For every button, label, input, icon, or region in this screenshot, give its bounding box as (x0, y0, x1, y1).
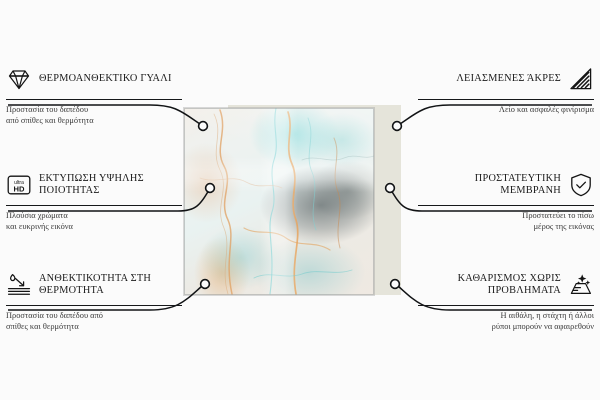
feature-protective-membrane: ΠΡΟΣΤΑΤΕΥΤΙΚΗ ΜΕΜΒΡΑΝΗ Προστατεύει το πί… (418, 168, 594, 232)
infographic-stage: ΘΕΡΜΟΑΝΘΕΚΤΙΚΟ ΓΥΑΛΙ Προστασία του δαπέδ… (0, 0, 600, 400)
feature-title: ΕΚΤΥΠΩΣΗ ΥΨΗΛΗΣ ΠΟΙΟΤΗΤΑΣ (39, 173, 182, 198)
divider (6, 99, 182, 100)
diamond-icon (6, 66, 32, 92)
feature-subtitle: Η αιθάλη, η στάχτη ή άλλοιρύποι μπορούν … (418, 311, 594, 332)
shield-check-icon (568, 172, 594, 198)
feature-subtitle: Προστασία του δαπέδου απόσπίθες και θερμ… (6, 311, 182, 332)
divider (6, 305, 182, 306)
feature-subtitle: Προστασία του δαπέδουαπό σπίθες και θερμ… (6, 105, 182, 126)
feature-subtitle: Λείο και ασφαλές φινίρισμα (418, 105, 594, 116)
feature-heat-resistant-glass: ΘΕΡΜΟΑΝΘΕΚΤΙΚΟ ΓΥΑΛΙ Προστασία του δαπέδ… (6, 62, 182, 126)
product-image (184, 108, 401, 295)
hatched-edge-icon (568, 66, 594, 92)
glass-edge (184, 108, 374, 295)
feature-subtitle: Πλούσια χρώματακαι ευκρινής εικόνα (6, 211, 182, 232)
divider (418, 305, 594, 306)
feature-polished-edges: ΛΕΙΑΣΜΕΝΕΣ ΆΚΡΕΣ Λείο και ασφαλές φινίρι… (418, 62, 594, 116)
feature-title: ΠΡΟΣΤΑΤΕΥΤΙΚΗ ΜΕΜΒΡΑΝΗ (418, 173, 561, 198)
feature-heat-durability: ΑΝΘΕΚΤΙΚΟΤΗΤΑ ΣΤΗ ΘΕΡΜΟΤΗΤΑ Προστασία το… (6, 268, 182, 332)
sparkle-clean-icon (568, 272, 594, 298)
svg-text:HD: HD (14, 184, 25, 193)
divider (6, 205, 182, 206)
flame-deflect-icon (6, 272, 32, 298)
ultra-hd-icon: ultra HD (6, 172, 32, 198)
feature-title: ΛΕΙΑΣΜΕΝΕΣ ΆΚΡΕΣ (456, 73, 561, 85)
divider (418, 205, 594, 206)
feature-title: ΘΕΡΜΟΑΝΘΕΚΤΙΚΟ ΓΥΑΛΙ (39, 73, 172, 85)
feature-high-quality-print: ultra HD ΕΚΤΥΠΩΣΗ ΥΨΗΛΗΣ ΠΟΙΟΤΗΤΑΣ Πλούσ… (6, 168, 182, 232)
glass-panel (184, 108, 374, 295)
feature-subtitle: Προστατεύει το πίσωμέρος της εικόνας (418, 211, 594, 232)
feature-title: ΚΑΘΑΡΙΣΜΟΣ ΧΩΡΙΣ ΠΡΟΒΛΗΜΑΤΑ (418, 273, 561, 298)
divider (418, 99, 594, 100)
feature-easy-cleaning: ΚΑΘΑΡΙΣΜΟΣ ΧΩΡΙΣ ΠΡΟΒΛΗΜΑΤΑ Η αιθάλη, η … (418, 268, 594, 332)
feature-title: ΑΝΘΕΚΤΙΚΟΤΗΤΑ ΣΤΗ ΘΕΡΜΟΤΗΤΑ (39, 273, 182, 298)
